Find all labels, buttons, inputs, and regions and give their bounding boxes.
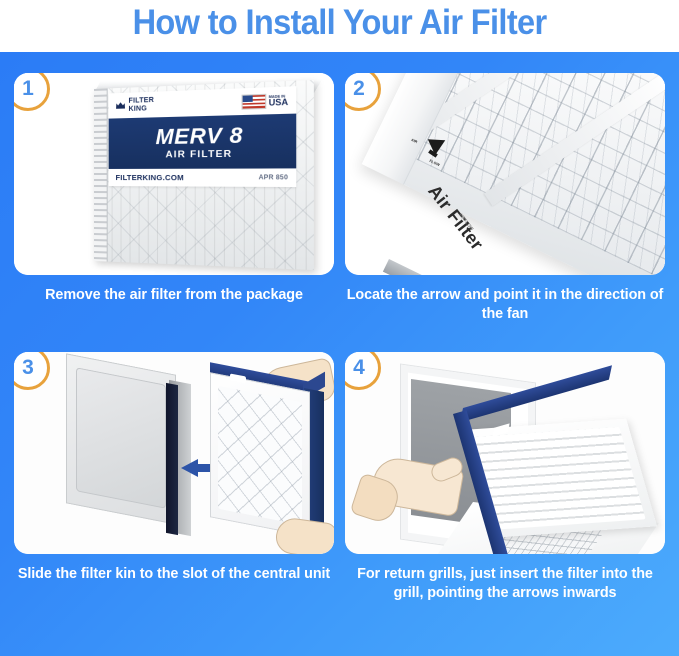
- step-2: AIR FLOW Air Filter AIRFLOW 2 Locate the…: [345, 73, 665, 324]
- brand-text-block: FILTER KING: [129, 97, 155, 113]
- step-4-card: 4: [345, 352, 665, 554]
- slide-direction-arrow-head: [181, 459, 198, 477]
- made-in-usa-mark: MADE IN USA: [242, 92, 288, 109]
- made-in-usa-text: MADE IN USA: [269, 94, 288, 108]
- product-name: MERV 8: [156, 124, 244, 149]
- website-text: FILTERKING.COM: [116, 173, 184, 182]
- grille-louvers: [474, 427, 645, 529]
- steps-grid: FILTER KING: [0, 52, 679, 656]
- step-1-card: FILTER KING: [14, 73, 334, 275]
- product-subtitle: AIR FILTER: [165, 148, 232, 160]
- step-3: 3 Slide the filter kin to the slot of th…: [14, 352, 334, 584]
- how-to-install-air-filter-infographic: How to Install Your Air Filter: [0, 0, 679, 656]
- label-bottom-row: FILTERKING.COM APR 850: [109, 168, 297, 187]
- step-4-caption: For return grills, just insert the filte…: [345, 565, 665, 603]
- central-unit-slot: [166, 383, 178, 535]
- filter-product-label: FILTER KING: [109, 86, 297, 187]
- step-1-number: 1: [22, 78, 34, 100]
- filter-panel: [210, 372, 310, 536]
- crown-icon: [116, 101, 126, 110]
- step-4-image: [345, 352, 665, 554]
- central-unit-panel: [76, 367, 166, 508]
- step-1-image: FILTER KING: [14, 73, 334, 275]
- step-1-caption: Remove the air filter from the package: [14, 286, 334, 305]
- brand-line-1: FILTER: [129, 97, 155, 106]
- step-3-card: 3: [14, 352, 334, 554]
- country-text: USA: [269, 98, 288, 107]
- step-3-number: 3: [22, 357, 34, 379]
- step-2-caption: Locate the arrow and point it in the dir…: [345, 286, 665, 324]
- step-3-caption: Slide the filter kin to the slot of the …: [14, 565, 334, 584]
- step-2-image: AIR FLOW Air Filter AIRFLOW: [345, 73, 665, 275]
- flag-canton: [243, 95, 253, 103]
- filter-side-band: [94, 88, 108, 261]
- step-4: 4 For return grills, just insert the fil…: [345, 352, 665, 603]
- page-title: How to Install Your Air Filter: [133, 0, 547, 45]
- filter-king-logo: FILTER KING: [116, 97, 155, 114]
- brand-line-2: KING: [129, 105, 155, 114]
- step-2-card: AIR FLOW Air Filter AIRFLOW 2: [345, 73, 665, 275]
- merv8-filter-photo: FILTER KING: [94, 80, 314, 270]
- steps-board: FILTER KING: [0, 52, 679, 656]
- step-3-image: [14, 352, 334, 554]
- central-unit-body: [66, 353, 176, 524]
- label-product-banner: MERV 8 AIR FILTER: [109, 114, 297, 169]
- step-4-number: 4: [353, 357, 365, 379]
- step-1: FILTER KING: [14, 73, 334, 305]
- hand-lower: [274, 516, 334, 554]
- infographic-header: How to Install Your Air Filter: [0, 0, 679, 52]
- air-filter-corner-photo: [362, 73, 665, 275]
- step-2-number: 2: [353, 78, 365, 100]
- us-flag-icon: [242, 93, 267, 109]
- apr-rating-text: APR 850: [259, 174, 288, 181]
- filter-mesh-pattern: [218, 386, 302, 525]
